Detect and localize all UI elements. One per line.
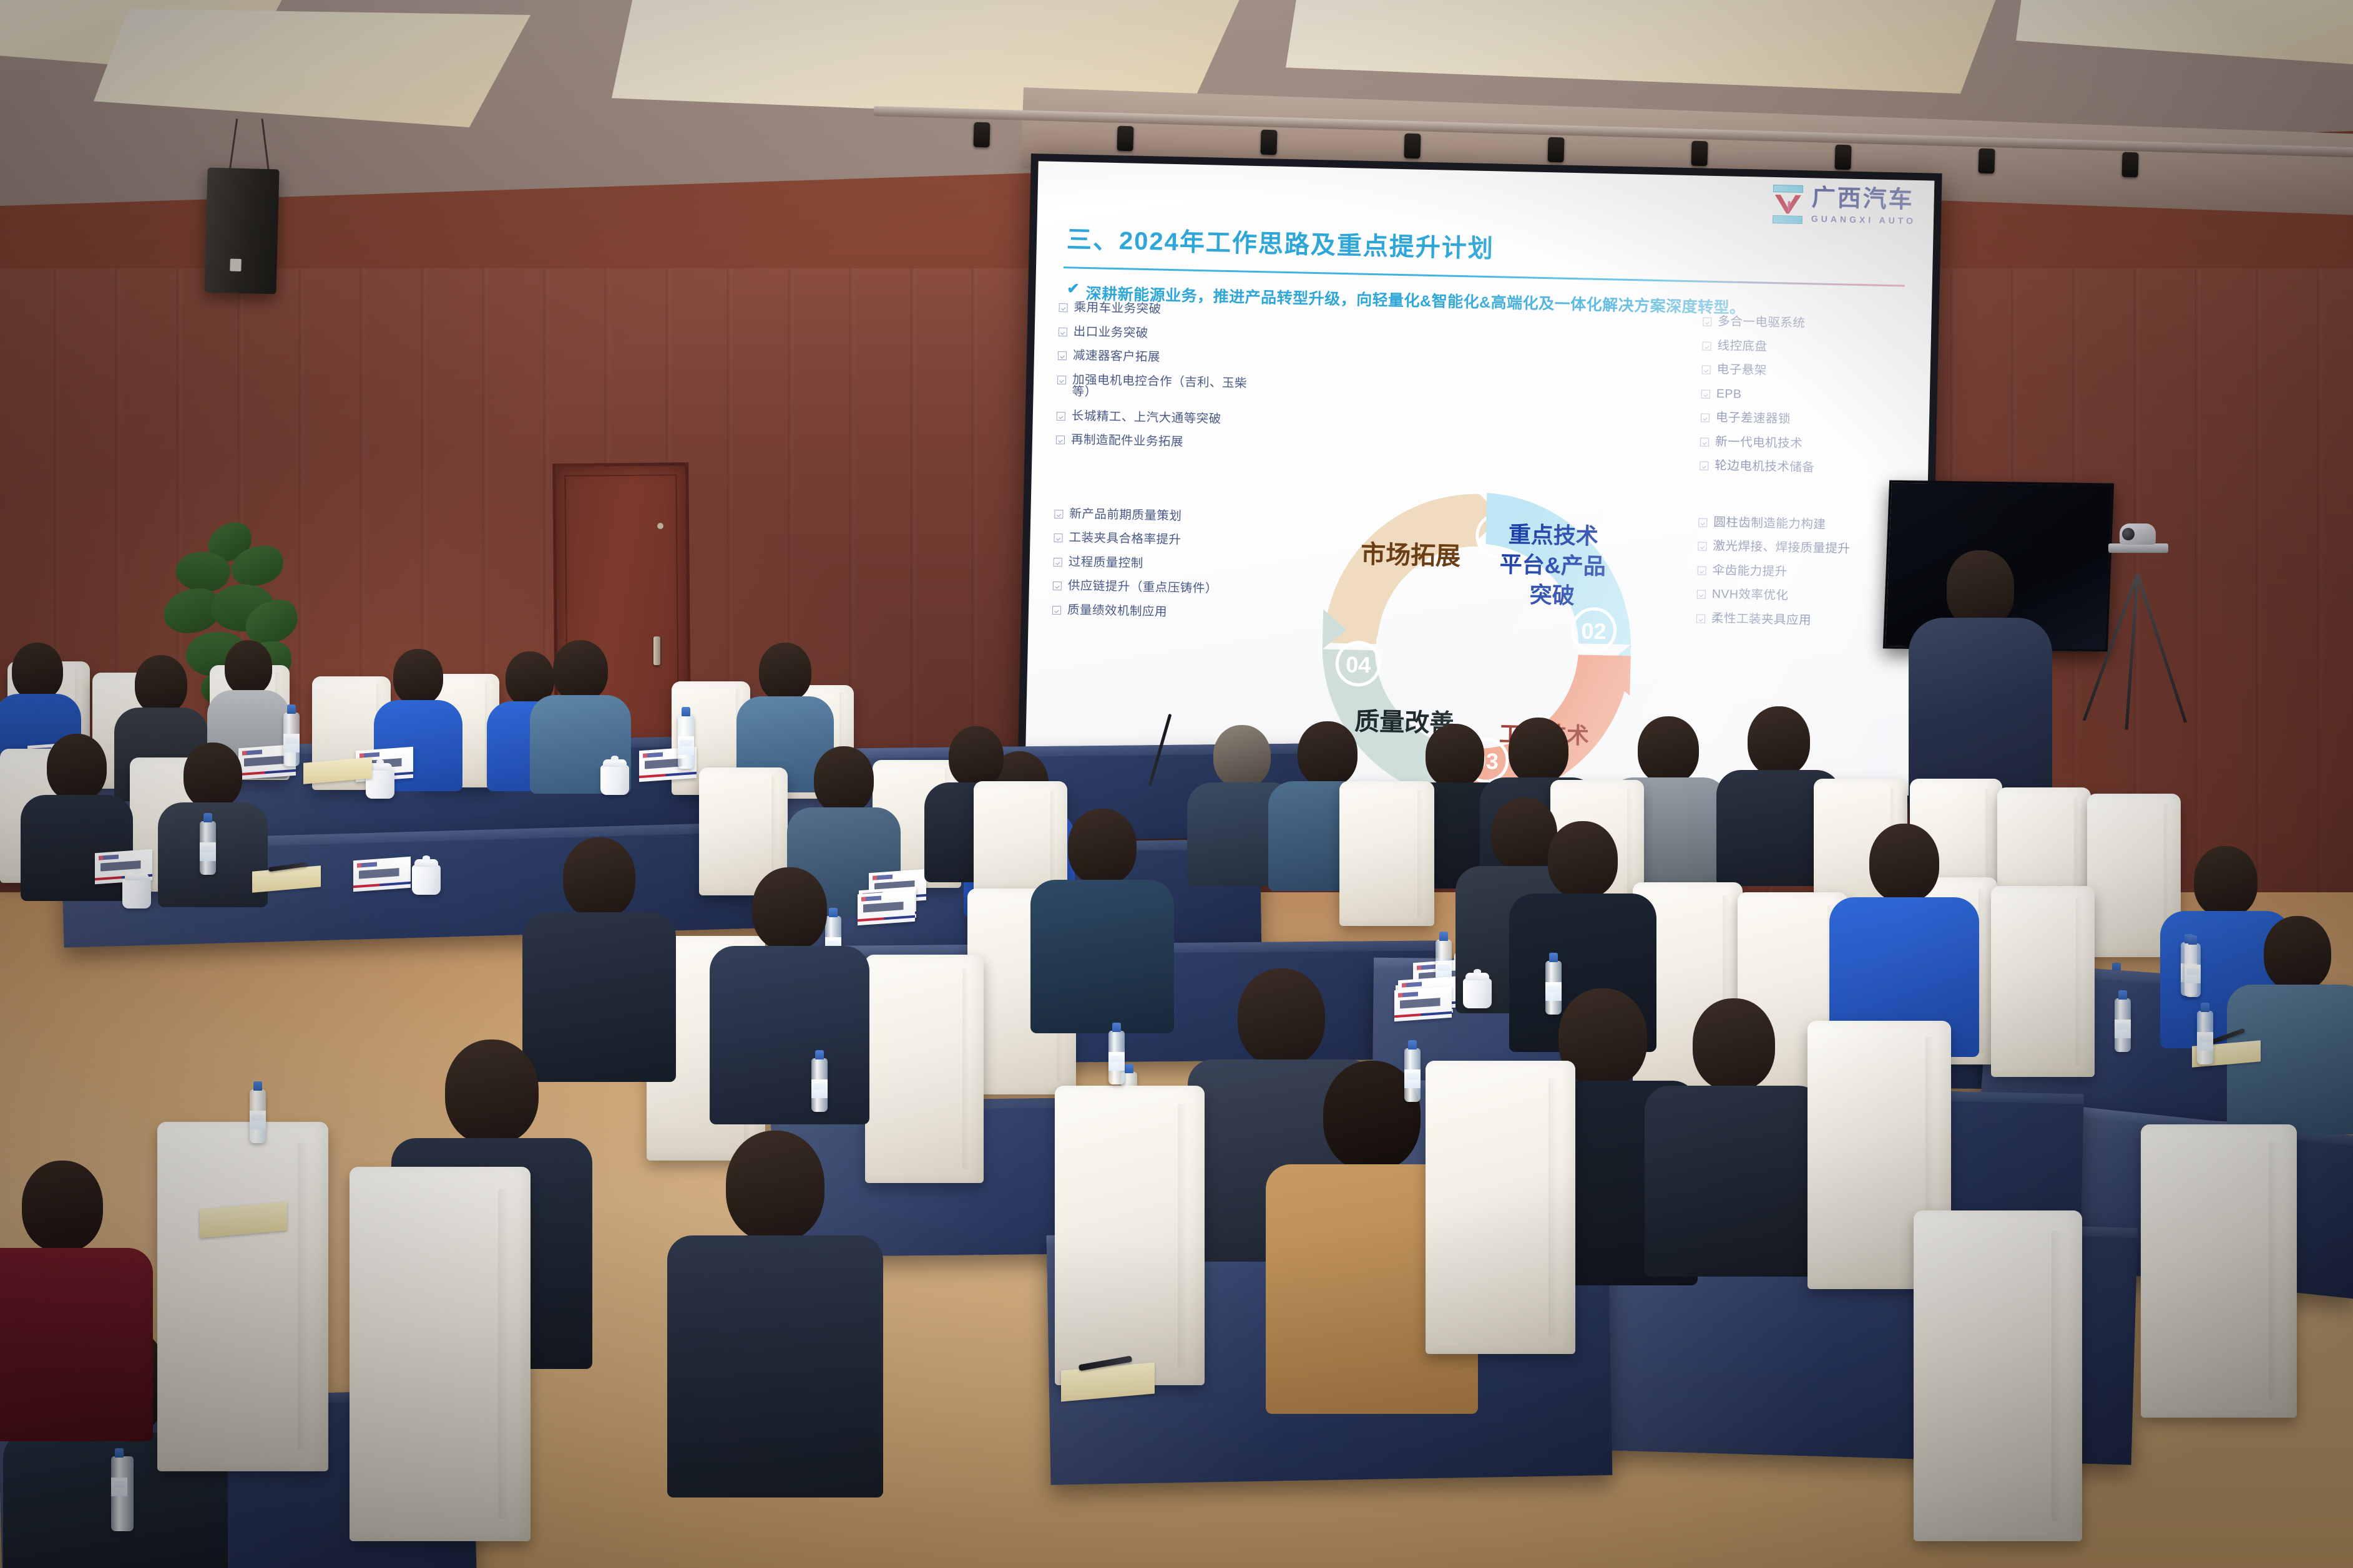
checkbox-icon — [1059, 303, 1067, 312]
chair — [350, 1167, 531, 1541]
spotlight-icon — [1404, 134, 1421, 159]
list-item-label: 工装夹具合格率提升 — [1069, 532, 1181, 546]
list-item: 电子差速器锁 — [1701, 412, 1909, 429]
list-item-label: 减速器客户拓展 — [1073, 350, 1160, 364]
engineering-technology-items: 圆柱齿制造能力构建 激光焊接、焊接质量提升 伞齿能力提升 NVH效率优化 柔性工… — [1696, 516, 1907, 641]
list-item-label: 新产品前期质量策划 — [1069, 508, 1181, 522]
list-item: 新产品前期质量策划 — [1054, 507, 1263, 524]
water-bottle — [1404, 1048, 1421, 1102]
water-bottle — [1108, 1031, 1125, 1084]
list-item: 工装夹具合格率提升 — [1054, 532, 1262, 548]
list-item: 过程质量控制 — [1054, 555, 1262, 572]
checkbox-icon — [1702, 366, 1711, 374]
attendee — [166, 743, 260, 898]
chair — [1914, 1210, 2082, 1541]
ceiling-speaker — [204, 168, 279, 295]
water-bottle — [283, 713, 300, 766]
list-item-label: 伞齿能力提升 — [1712, 564, 1787, 578]
list-item: 长城精工、上汽大通等突破 — [1057, 409, 1265, 426]
list-item: 柔性工装夹具应用 — [1696, 612, 1905, 629]
list-item: 减速器客户拓展 — [1058, 349, 1266, 366]
tea-mug — [1463, 978, 1492, 1008]
svg-text:突破: 突破 — [1529, 582, 1575, 609]
list-item-label: 再制造配件业务拓展 — [1071, 434, 1183, 449]
list-item: 质量绩效机制应用 — [1052, 603, 1261, 620]
list-item-label: 乘用车业务突破 — [1074, 302, 1161, 316]
list-item-label: 多合一电驱系统 — [1718, 316, 1805, 330]
attendee — [1298, 1061, 1446, 1410]
attendee — [543, 837, 655, 1074]
attendee — [2244, 916, 2351, 1122]
checkbox-icon — [1054, 557, 1062, 566]
spotlight-icon — [1117, 126, 1133, 152]
list-item: 出口业务突破 — [1059, 326, 1267, 343]
water-bottle — [111, 1456, 134, 1531]
water-bottle — [200, 821, 216, 875]
checkbox-icon — [1698, 566, 1706, 575]
left-bullet-column: 乘用车业务突破 出口业务突破 减速器客户拓展 加强电机电控合作（吉利、玉柴等） … — [1037, 293, 1279, 776]
list-item-label: 线控底盘 — [1717, 340, 1767, 353]
slide-title: 三、2024年工作思路及重点提升计划 — [1066, 219, 1912, 274]
list-item-label: 新一代电机技术 — [1715, 436, 1803, 450]
tripod — [2103, 543, 2172, 730]
logo-text-cn: 广西汽车 — [1811, 186, 1917, 212]
checkbox-icon — [1052, 605, 1061, 614]
list-item-label: 供应链提升（重点压铸件） — [1068, 580, 1218, 595]
checkbox-icon — [1696, 614, 1705, 623]
list-item: 轮边电机技术储备 — [1700, 459, 1908, 476]
list-item-label: 出口业务突破 — [1074, 326, 1148, 339]
ptz-camera — [2108, 523, 2168, 553]
spotlight-icon — [1691, 141, 1708, 167]
door-lock-icon — [657, 523, 663, 529]
list-item: 线控底盘 — [1702, 339, 1910, 356]
checkbox-icon — [1700, 437, 1709, 446]
list-item: 再制造配件业务拓展 — [1056, 434, 1265, 450]
spotlight-icon — [1260, 130, 1277, 155]
water-bottle — [250, 1089, 266, 1143]
list-item-label: 过程质量控制 — [1069, 556, 1143, 570]
svg-text:04: 04 — [1346, 651, 1371, 678]
water-bottle — [678, 715, 694, 769]
logo-text-en: GUANGXI AUTO — [1811, 213, 1916, 226]
tea-mug — [412, 865, 441, 895]
chair — [1991, 886, 2095, 1077]
checkbox-icon — [1054, 533, 1062, 542]
svg-text:02: 02 — [1581, 618, 1607, 644]
chair — [157, 1122, 328, 1471]
water-bottle — [2197, 1011, 2213, 1064]
list-item-label: 长城精工、上汽大通等突破 — [1072, 410, 1221, 426]
name-card — [353, 857, 411, 892]
quality-improvement-items: 新产品前期质量策划 工装夹具合格率提升 过程质量控制 供应链提升（重点压铸件） … — [1052, 507, 1263, 632]
checkbox-icon — [1701, 389, 1710, 398]
brand-logo: 广西汽车 GUANGXI AUTO — [1771, 185, 1917, 226]
spotlight-icon — [973, 122, 990, 148]
list-item: 供应链提升（重点压铸件） — [1053, 580, 1261, 597]
spotlight-icon — [2121, 152, 2138, 178]
checkbox-icon — [1053, 582, 1062, 590]
checkbox-icon — [1058, 351, 1067, 360]
checkbox-icon — [1057, 376, 1066, 384]
checkbox-icon — [1057, 411, 1065, 420]
chair — [2141, 1124, 2297, 1418]
water-bottle — [2184, 943, 2201, 997]
list-item-label: NVH效率优化 — [1712, 588, 1789, 602]
name-card — [858, 890, 915, 925]
chair — [1426, 1061, 1575, 1354]
svg-text:平台&产品: 平台&产品 — [1499, 552, 1606, 580]
market-expansion-items: 乘用车业务突破 出口业务突破 减速器客户拓展 加强电机电控合作（吉利、玉柴等） … — [1055, 301, 1267, 462]
checkbox-icon — [1698, 518, 1707, 527]
tea-mug — [600, 765, 629, 795]
checkbox-icon — [1056, 436, 1065, 444]
conference-room-scene: 广西汽车 GUANGXI AUTO 三、2024年工作思路及重点提升计划 ✔ 深… — [0, 0, 2353, 1568]
list-item: 加强电机电控合作（吉利、玉柴等） — [1057, 374, 1266, 402]
list-item-label: 激光焊接、焊接质量提升 — [1713, 540, 1850, 555]
spotlight-icon — [1978, 149, 1995, 174]
checkbox-icon — [1703, 318, 1711, 326]
list-item: 圆柱齿制造能力构建 — [1698, 516, 1907, 533]
list-item-label: 圆柱齿制造能力构建 — [1713, 516, 1826, 530]
guangxi-auto-logo-icon — [1771, 185, 1804, 224]
checkbox-icon — [1697, 590, 1706, 598]
svg-text:重点技术: 重点技术 — [1508, 522, 1598, 549]
chair — [1339, 781, 1434, 926]
tea-mug — [122, 879, 151, 908]
key-technology-items: 多合一电驱系统 线控底盘 电子悬架 EPB 电子差速器锁 新一代电机技术 轮边电… — [1700, 316, 1912, 489]
list-item: EPB — [1701, 387, 1910, 404]
attendee — [700, 1131, 850, 1493]
spotlight-icon — [1547, 137, 1564, 163]
list-item: 伞齿能力提升 — [1697, 564, 1905, 581]
list-item-label: 加强电机电控合作（吉利、玉柴等） — [1072, 374, 1266, 402]
slide-surface: 广西汽车 GUANGXI AUTO 三、2024年工作思路及重点提升计划 ✔ 深… — [1025, 161, 1934, 796]
list-item-label: 电子悬架 — [1716, 364, 1766, 377]
name-card — [1394, 986, 1452, 1021]
attendee — [0, 1161, 125, 1435]
svg-text:市场拓展: 市场拓展 — [1361, 541, 1461, 570]
checkbox-icon — [1701, 414, 1710, 422]
water-bottle — [2115, 998, 2131, 1052]
checkbox-icon — [1700, 461, 1708, 470]
list-item-label: 电子差速器锁 — [1716, 412, 1791, 426]
spotlight-icon — [1834, 145, 1851, 170]
list-item: NVH效率优化 — [1697, 588, 1905, 605]
checkbox-icon — [1702, 341, 1711, 350]
attendee — [1671, 998, 1796, 1273]
list-item: 激光焊接、焊接质量提升 — [1698, 540, 1906, 557]
attendee — [1049, 809, 1156, 1023]
list-item-label: 轮边电机技术储备 — [1715, 460, 1814, 474]
list-item-label: 质量绩效机制应用 — [1067, 604, 1167, 618]
checkbox-icon — [1698, 542, 1706, 550]
attendee — [1849, 824, 1960, 1048]
list-item-label: 柔性工装夹具应用 — [1711, 612, 1811, 626]
chair — [865, 955, 984, 1183]
attendee — [1730, 706, 1827, 874]
water-bottle — [811, 1058, 828, 1112]
list-item: 新一代电机技术 — [1700, 436, 1909, 452]
chair — [1055, 1086, 1205, 1385]
list-item: 多合一电驱系统 — [1703, 316, 1911, 333]
checkbox-icon — [1054, 509, 1063, 518]
presentation-slide: 广西汽车 GUANGXI AUTO 三、2024年工作思路及重点提升计划 ✔ 深… — [1025, 161, 1934, 796]
attendee — [731, 867, 848, 1117]
door-handle-icon[interactable] — [653, 636, 660, 665]
checkbox-icon — [1059, 328, 1067, 336]
list-item: 电子悬架 — [1701, 364, 1910, 381]
list-item: 乘用车业务突破 — [1059, 301, 1267, 318]
list-item-label: EPB — [1716, 388, 1742, 401]
